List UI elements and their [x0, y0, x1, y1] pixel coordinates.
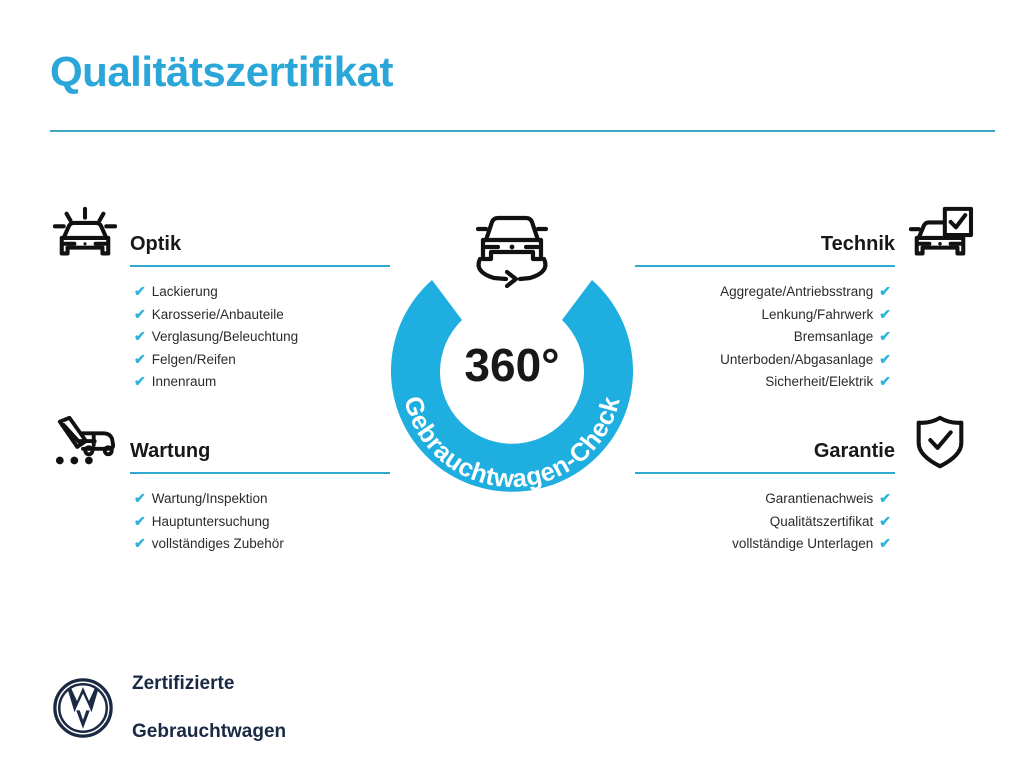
section-title: Optik	[130, 234, 181, 256]
badge-degree-label: 360°	[374, 338, 650, 392]
section-header-optik: Optik	[50, 205, 395, 267]
list-item-label: Verglasung/Beleuchtung	[152, 326, 298, 349]
list-item-label: vollständiges Zubehör	[152, 533, 284, 556]
sparkling-car-front-icon	[50, 205, 120, 267]
checklist-garantie: Garantienachweis✔ Qualitätszertifikat✔ v…	[630, 488, 975, 556]
section-wartung: Wartung ✔Wartung/Inspektion ✔Hauptunters…	[50, 412, 395, 556]
section-title-block-technik: Technik	[635, 234, 895, 267]
list-item-label: Qualitätszertifikat	[770, 511, 874, 534]
list-item-label: Innenraum	[152, 371, 217, 394]
list-item: Qualitätszertifikat✔	[630, 511, 891, 534]
check-icon: ✔	[879, 514, 891, 528]
list-item: Bremsanlage✔	[630, 326, 891, 349]
check-icon: ✔	[134, 374, 146, 388]
section-header-garantie: Garantie	[630, 412, 975, 474]
check-icon: ✔	[134, 307, 146, 321]
checklist-wartung: ✔Wartung/Inspektion ✔Hauptuntersuchung ✔…	[50, 488, 395, 556]
check-icon: ✔	[134, 491, 146, 505]
list-item-label: Karosserie/Anbauteile	[152, 304, 284, 327]
footer-line-2: Gebrauchtwagen	[132, 720, 286, 744]
footer-line-1: Zertifizierte	[132, 672, 286, 696]
footer-logo-text: Zertifizierte Gebrauchtwagen	[132, 648, 286, 769]
list-item-label: Bremsanlage	[794, 326, 874, 349]
section-divider	[635, 265, 895, 267]
service-pen-car-icon	[50, 412, 120, 474]
list-item-label: Hauptuntersuchung	[152, 511, 270, 534]
list-item-label: Wartung/Inspektion	[152, 488, 268, 511]
list-item-label: Sicherheit/Elektrik	[765, 371, 873, 394]
list-item: ✔Lackierung	[134, 281, 395, 304]
list-item-label: Unterboden/Abgasanlage	[720, 349, 873, 372]
vw-logo-icon	[52, 677, 114, 739]
list-item-label: Aggregate/Antriebsstrang	[720, 281, 873, 304]
section-title-block-optik: Optik	[130, 234, 390, 267]
check-icon: ✔	[134, 284, 146, 298]
list-item-label: vollständige Unterlagen	[732, 533, 873, 556]
check-icon: ✔	[879, 307, 891, 321]
check-icon: ✔	[879, 329, 891, 343]
list-item: Lenkung/Fahrwerk✔	[630, 304, 891, 327]
check-icon: ✔	[879, 284, 891, 298]
360-check-badge: Gebrauchtwagen-Check 360°	[374, 196, 650, 496]
page-title: Qualitätszertifikat	[50, 50, 393, 94]
list-item: ✔Felgen/Reifen	[134, 349, 395, 372]
section-garantie: Garantie Garantienachweis✔ Qualitätszert…	[630, 412, 975, 556]
check-icon: ✔	[134, 514, 146, 528]
section-title: Wartung	[130, 441, 210, 463]
check-icon: ✔	[134, 536, 146, 550]
list-item: ✔vollständiges Zubehör	[134, 533, 395, 556]
list-item-label: Felgen/Reifen	[152, 349, 236, 372]
section-divider	[130, 265, 390, 267]
section-title: Technik	[821, 234, 895, 256]
list-item: Garantienachweis✔	[630, 488, 891, 511]
car-checkbox-icon	[905, 205, 975, 267]
section-divider	[635, 472, 895, 474]
section-divider	[130, 472, 390, 474]
list-item: ✔Karosserie/Anbauteile	[134, 304, 395, 327]
car-rotation-360-icon	[462, 196, 562, 288]
check-icon: ✔	[879, 352, 891, 366]
section-header-technik: Technik	[630, 205, 975, 267]
check-icon: ✔	[879, 374, 891, 388]
section-title-block-wartung: Wartung	[130, 441, 390, 474]
check-icon: ✔	[134, 329, 146, 343]
list-item: Sicherheit/Elektrik✔	[630, 371, 891, 394]
list-item-label: Lenkung/Fahrwerk	[761, 304, 873, 327]
shield-check-icon	[905, 412, 975, 474]
list-item: ✔Wartung/Inspektion	[134, 488, 395, 511]
list-item-label: Garantienachweis	[765, 488, 873, 511]
list-item: Unterboden/Abgasanlage✔	[630, 349, 891, 372]
footer-logo: Zertifizierte Gebrauchtwagen	[52, 648, 286, 769]
title-divider	[50, 130, 995, 132]
checklist-technik: Aggregate/Antriebsstrang✔ Lenkung/Fahrwe…	[630, 281, 975, 394]
list-item: vollständige Unterlagen✔	[630, 533, 891, 556]
list-item: ✔Innenraum	[134, 371, 395, 394]
list-item-label: Lackierung	[152, 281, 218, 304]
section-header-wartung: Wartung	[50, 412, 395, 474]
section-optik: Optik ✔Lackierung ✔Karosserie/Anbauteile…	[50, 205, 395, 394]
list-item: ✔Verglasung/Beleuchtung	[134, 326, 395, 349]
checklist-optik: ✔Lackierung ✔Karosserie/Anbauteile ✔Verg…	[50, 281, 395, 394]
list-item: Aggregate/Antriebsstrang✔	[630, 281, 891, 304]
list-item: ✔Hauptuntersuchung	[134, 511, 395, 534]
check-icon: ✔	[134, 352, 146, 366]
section-technik: Technik Aggregate/Antriebsstrang✔ Lenkun…	[630, 205, 975, 394]
check-icon: ✔	[879, 491, 891, 505]
check-icon: ✔	[879, 536, 891, 550]
section-title-block-garantie: Garantie	[635, 441, 895, 474]
section-title: Garantie	[814, 441, 895, 463]
